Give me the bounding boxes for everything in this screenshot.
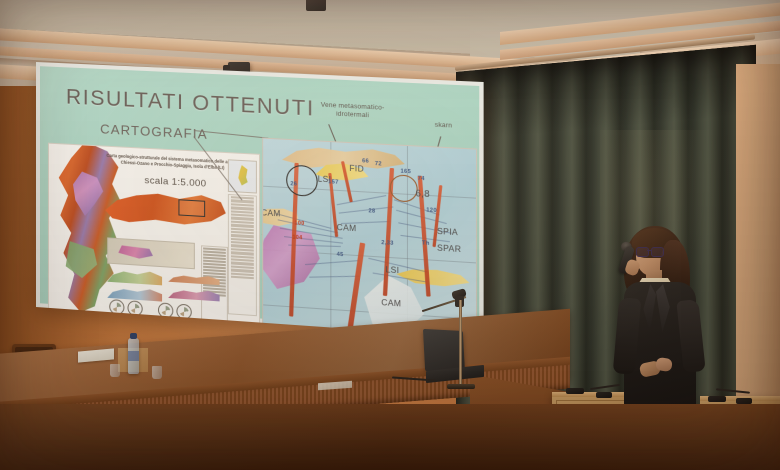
map-measure: 66	[362, 158, 369, 165]
map-scale-label: scala 1:5.000	[132, 174, 220, 190]
map-measure: 45	[337, 252, 344, 259]
cross-section	[107, 266, 162, 286]
cross-section	[168, 286, 219, 302]
cross-section	[168, 272, 219, 286]
map-measure: 2,33	[381, 240, 393, 247]
ceiling-fixture-icon	[306, 0, 326, 11]
map-measure: 6,8	[416, 188, 430, 199]
map-label-cam: CAM	[337, 223, 357, 233]
microphone-stand-base	[447, 384, 475, 389]
map-main-area	[105, 185, 226, 241]
map-measure: 165	[401, 169, 412, 176]
map-label-spar: SPAR	[437, 243, 461, 254]
presentation-photo: RISULTATI OTTENUTI CARTOGRAFIA Vene meta…	[0, 0, 780, 470]
drinking-glass	[152, 366, 162, 379]
bottle-label	[128, 351, 139, 361]
map-caption: Carta geologico-strutturale del sistema …	[105, 153, 240, 171]
map-measure: 120	[426, 207, 437, 214]
map-measure: 26	[290, 181, 297, 188]
slide-background: RISULTATI OTTENUTI CARTOGRAFIA Vene meta…	[40, 66, 479, 333]
map-label-spia: SPIA	[437, 227, 458, 238]
glasses-icon	[636, 247, 664, 255]
map-measure: 157	[328, 179, 338, 186]
map-detail-box	[178, 199, 205, 217]
map-measure: 72	[375, 161, 382, 168]
map-inset-island	[237, 165, 248, 186]
map-measure-red: 100	[295, 220, 305, 227]
map-measure: 28	[368, 208, 375, 215]
map-label-cam: CAM	[381, 298, 401, 309]
map-label-lsi: LSI	[386, 265, 400, 275]
av-equipment	[566, 388, 584, 394]
detail-map: LSI FID CAM CAM CAM LSI SPIA SPAR 26 157…	[262, 138, 477, 339]
wall-strip-right	[736, 64, 780, 404]
microphone-stand	[459, 300, 462, 386]
slide-subtitle: CARTOGRAFIA	[100, 121, 208, 142]
cross-section-block	[107, 237, 195, 269]
map-measure: 74	[418, 176, 425, 183]
map-label-fid: FID	[349, 164, 364, 174]
screen-surface: RISULTATI OTTENUTI CARTOGRAFIA Vene meta…	[36, 62, 484, 338]
map-measure-red: 104	[292, 235, 302, 242]
bottle-cap	[130, 333, 137, 339]
map-measure: Th	[422, 240, 430, 247]
overview-map: Carta geologico-strutturale del sistema …	[48, 143, 260, 324]
highlight-circle-skarn	[390, 174, 418, 203]
drinking-glass	[110, 364, 120, 377]
slide-title: RISULTATI OTTENUTI	[66, 85, 315, 121]
annotation-vene: Vene metasomatico-idrotermali	[315, 101, 391, 121]
map-label-cam: CAM	[262, 208, 280, 218]
annotation-skarn: skarn	[425, 121, 462, 131]
map-legend	[228, 194, 257, 316]
floor-reflection	[0, 404, 780, 470]
projection-screen: RISULTATI OTTENUTI CARTOGRAFIA Vene meta…	[36, 62, 484, 338]
